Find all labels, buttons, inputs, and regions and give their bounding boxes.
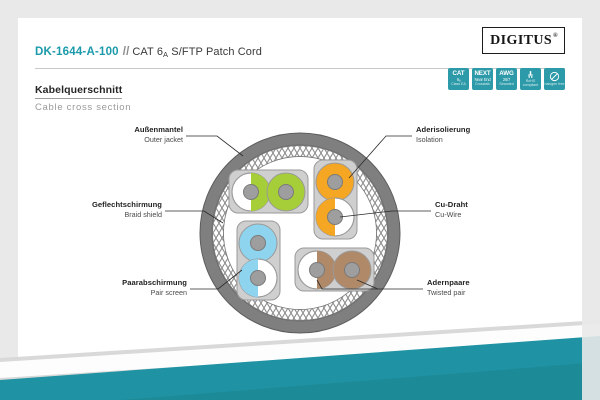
label-braid-shield: Geflechtschirmung Braid shield [18,200,162,219]
label-outer-jacket-de: Außenmantel [20,125,183,134]
label-cu-wire-de: Cu-Draht [435,200,468,209]
pair-green-wire-solid-core [279,185,294,200]
pair-green [229,170,308,213]
label-isolation: Aderisolierung Isolation [416,125,470,144]
label-pair-screen-de: Paarabschirmung [28,278,187,287]
label-twisted-pair-de: Adernpaare [427,278,470,287]
pair-blue [237,221,280,300]
pair-orange-wire-solid-core [328,175,343,190]
pair-blue-wire-solid-core [251,236,266,251]
pair-brown-wire-solid-core [345,263,360,278]
pair-brown-wire-striped-core [310,263,325,278]
label-isolation-en: Isolation [416,135,470,144]
band-right-margin [582,310,600,400]
page-root: DK-1644-A-100//CAT 6A S/FTP Patch Cord D… [0,0,600,400]
pair-blue-wire-striped-core [251,271,266,286]
label-isolation-de: Aderisolierung [416,125,470,134]
content-card: DK-1644-A-100//CAT 6A S/FTP Patch Cord D… [18,18,582,382]
label-pair-screen: Paarabschirmung Pair screen [28,278,187,297]
label-pair-screen-en: Pair screen [28,288,187,297]
pair-orange [314,160,357,239]
label-braid-shield-en: Braid shield [18,210,162,219]
label-braid-shield-de: Geflechtschirmung [18,200,162,209]
label-outer-jacket: Außenmantel Outer jacket [20,125,183,144]
label-cu-wire: Cu-Draht Cu-Wire [435,200,468,219]
pair-green-wire-striped-core [244,185,259,200]
label-cu-wire-en: Cu-Wire [435,210,468,219]
label-outer-jacket-en: Outer jacket [20,135,183,144]
leader-outer-jacket [186,136,243,156]
label-twisted-pair-en: Twisted pair [427,288,470,297]
pair-brown [295,248,374,291]
label-twisted-pair: Adernpaare Twisted pair [427,278,470,297]
